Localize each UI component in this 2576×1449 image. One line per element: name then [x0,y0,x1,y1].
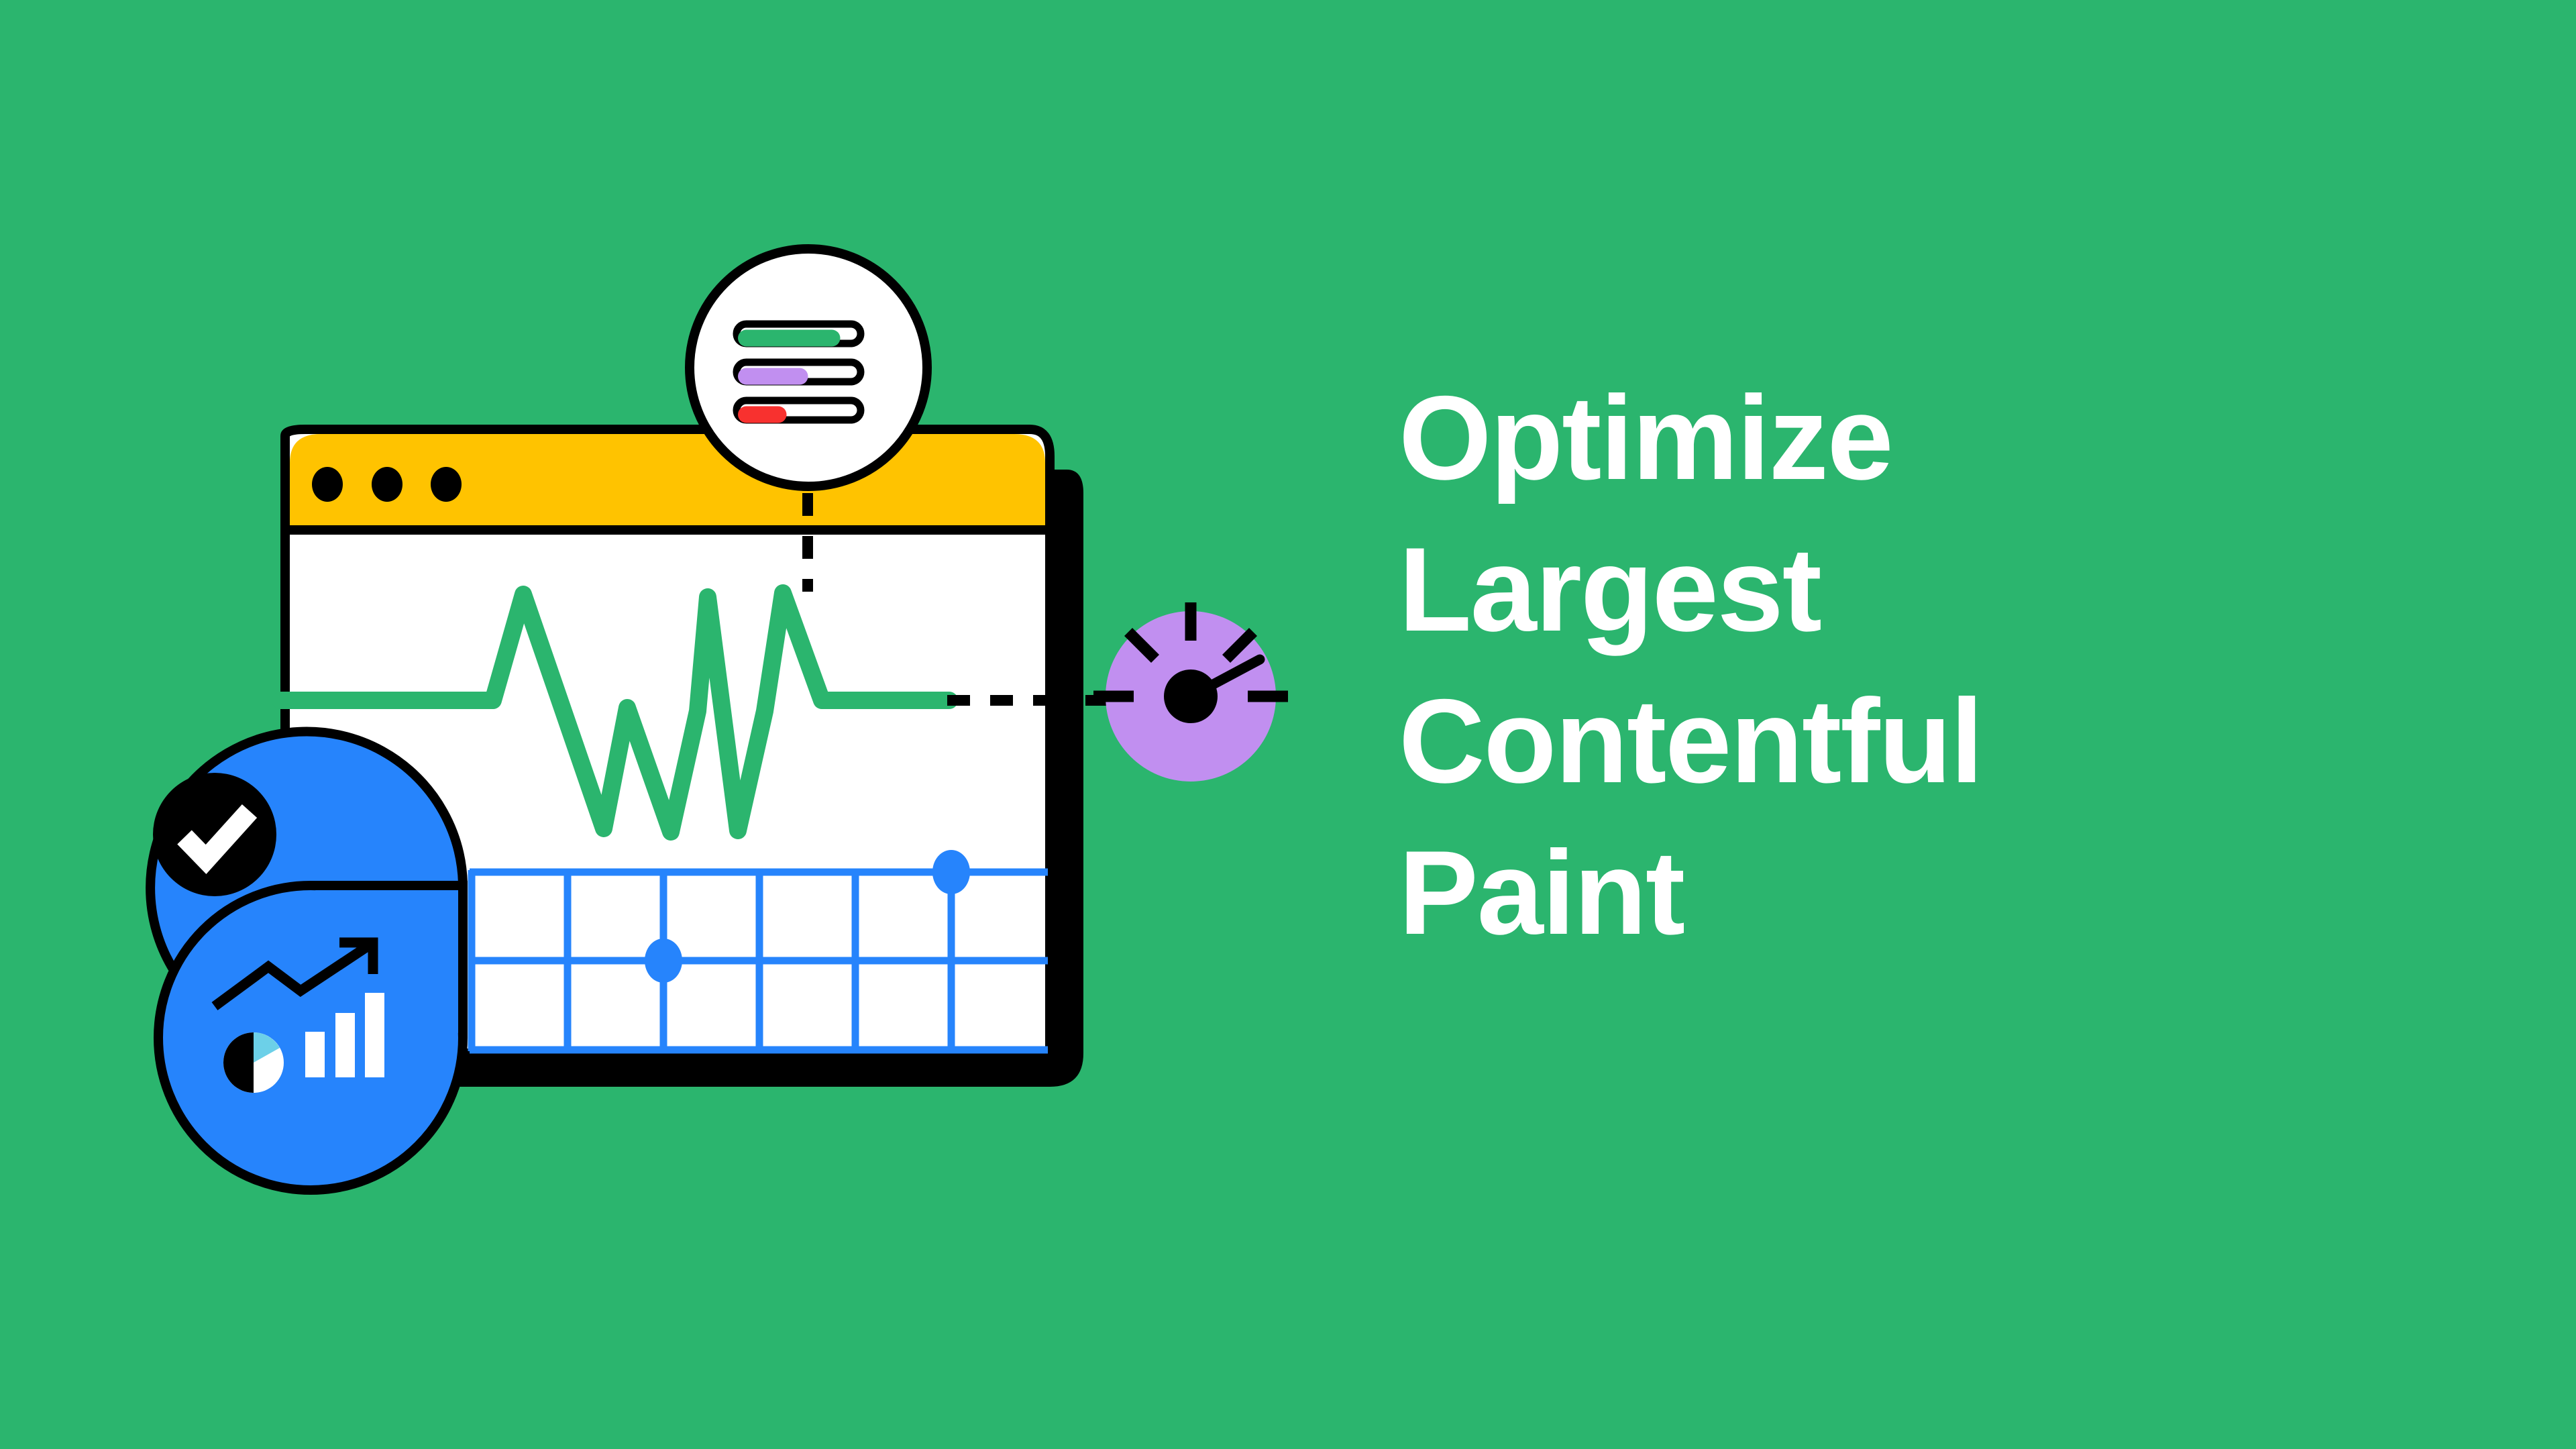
traffic-light-dot-3[interactable] [431,467,462,502]
traffic-light-dot-1[interactable] [312,467,343,502]
metrics-badge[interactable] [690,249,927,486]
metric-bar-needs-improvement[interactable] [737,362,861,385]
browser-title-bar [290,434,1045,530]
metric-bar-needs-improvement-fill [738,368,808,385]
metric-bar-good-fill [738,330,841,347]
hero-illustration-canvas: Optimize Largest Contentful Paint [0,0,2576,1449]
pie-chart-icon [223,1032,284,1093]
grid-point-a[interactable] [645,938,682,983]
metric-bar-poor-fill [738,407,787,423]
traffic-light-dot-2[interactable] [372,467,402,502]
metric-bar-poor[interactable] [737,400,861,423]
metric-bar-good[interactable] [737,324,861,347]
gauge-hub [1164,669,1218,723]
check-badge-circle [153,773,276,896]
page-title: Optimize Largest Contentful Paint [1399,362,2405,969]
grid-point-b[interactable] [932,850,970,894]
check-badge[interactable] [153,773,276,896]
